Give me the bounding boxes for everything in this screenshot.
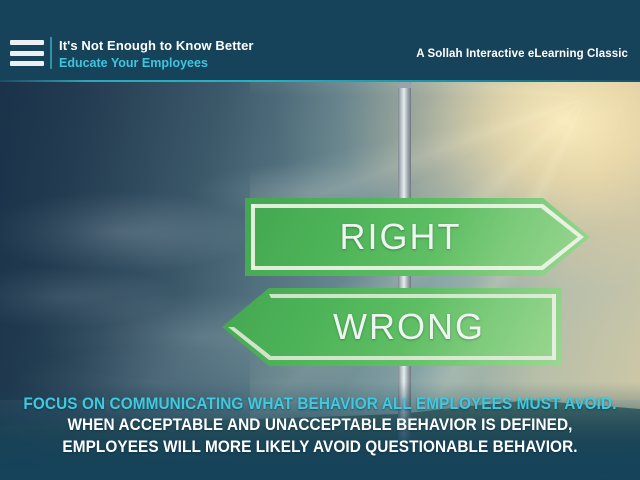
caption-line-1: FOCUS ON COMMUNICATING WHAT BEHAVIOR ALL… [22,394,617,414]
brand-tagline: A Sollah Interactive eLearning Classic [416,48,628,60]
caption-line-2: WHEN ACCEPTABLE AND UNACCEPTABLE BEHAVIO… [22,414,617,436]
sign-right-direction: RIGHT [245,198,590,276]
sign-wrong-direction: WRONG [222,288,562,366]
caption-line-3: EMPLOYEES WILL MORE LIKELY AVOID QUESTIO… [22,436,617,458]
slide-caption: FOCUS ON COMMUNICATING WHAT BEHAVIOR ALL… [0,394,640,458]
road-graphic [455,468,640,480]
hamburger-bar-2 [10,51,44,56]
hamburger-menu-icon[interactable] [10,40,44,66]
road-lane-marking-left [467,476,555,480]
sign-wrong-label: WRONG [333,306,485,348]
player-header: It's Not Enough to Know Better Educate Y… [0,0,640,82]
elearning-slide-player: It's Not Enough to Know Better Educate Y… [0,0,640,480]
hamburger-bar-3 [10,61,44,66]
sign-right-label: RIGHT [340,216,462,258]
header-title-group: It's Not Enough to Know Better Educate Y… [59,38,254,71]
header-accent-line [0,80,640,82]
course-subtitle: Educate Your Employees [59,55,254,71]
sign-wrong-inner-border-edge [552,294,556,360]
sign-right-inner-border-edge [251,204,255,270]
course-title: It's Not Enough to Know Better [59,38,254,54]
slide-content-area: RIGHT WRONG FOCUS ON COMMUNICATING WHAT … [0,82,640,480]
header-divider [50,37,52,69]
hamburger-bar-1 [10,40,44,45]
signpost-pole-cap [398,82,411,88]
